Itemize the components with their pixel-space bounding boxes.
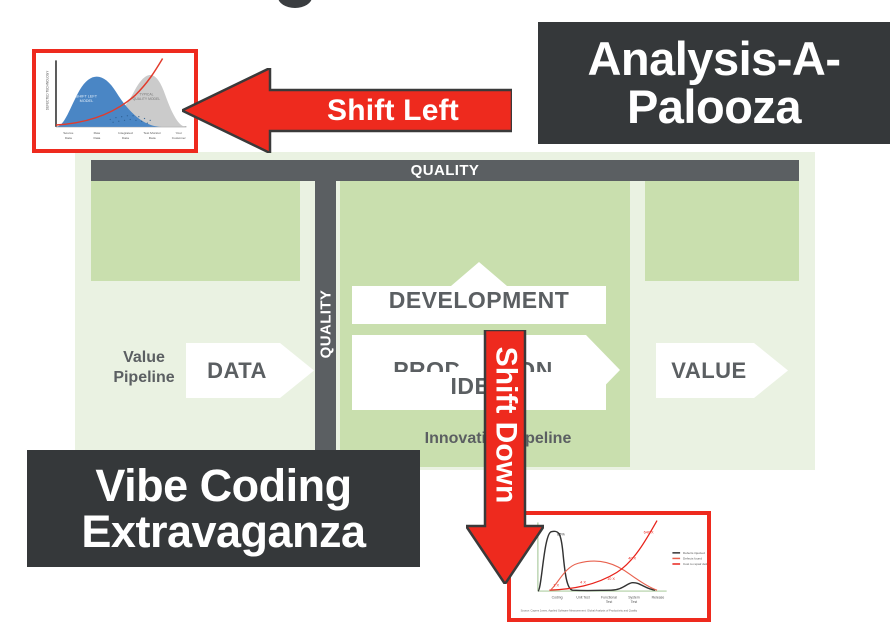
svg-text:Cost to repair defect: Cost to repair defect (683, 562, 707, 566)
svg-text:Data: Data (149, 136, 156, 140)
stage-data-label: DATA (207, 358, 267, 384)
svg-text:Defects found: Defects found (683, 557, 702, 561)
cost-chart-legend: Defects injected Defects found Cost to r… (672, 551, 707, 566)
svg-text:Integrated: Integrated (118, 131, 133, 135)
value-pipeline-label-line1: Value (107, 348, 181, 368)
analysis-a-palooza-title-card: Analysis-A-Palooza (538, 22, 890, 144)
svg-text:Source: Source (63, 131, 73, 135)
shift-left-arrow-label: Shift Left (327, 94, 459, 128)
top-cropped-glyph (278, 0, 312, 8)
value-pipeline-label: Value Pipeline (107, 348, 181, 388)
quality-top-bar: QUALITY (91, 160, 799, 181)
svg-text:10 X: 10 X (607, 577, 615, 581)
shift-left-model-chart[interactable]: DEFECTED TECHNOLOGY SHIFT LEFT MODEL TYP… (32, 49, 198, 153)
svg-text:Data: Data (122, 136, 129, 140)
shift-down-arrow[interactable]: Shift Down (466, 330, 544, 584)
quality-side-label: QUALITY (317, 290, 334, 359)
svg-text:85%: 85% (557, 532, 565, 536)
stage-value-label: VALUE (671, 358, 746, 384)
svg-text:Data: Data (94, 136, 101, 140)
svg-text:Test Monitor: Test Monitor (143, 131, 161, 135)
svg-text:DEFECTED TECHNOLOGY: DEFECTED TECHNOLOGY (45, 70, 49, 110)
svg-text:MODEL: MODEL (80, 99, 94, 103)
shift-left-model-svg: DEFECTED TECHNOLOGY SHIFT LEFT MODEL TYP… (36, 53, 194, 149)
shift-down-arrow-label: Shift Down (488, 347, 522, 504)
vibe-coding-extravaganza-title: Vibe Coding Extravaganza (27, 463, 420, 555)
stage-data[interactable]: DATA (186, 343, 314, 398)
value-pipeline-label-line2: Pipeline (107, 368, 181, 388)
svg-text:640 X: 640 X (644, 531, 655, 535)
svg-text:System: System (628, 596, 640, 600)
svg-text:Unit Test: Unit Test (576, 596, 589, 600)
svg-text:TYPICAL: TYPICAL (139, 93, 153, 97)
svg-text:Source: Capers Jones, Applied: Source: Capers Jones, Applied Software M… (521, 609, 638, 613)
svg-text:Release: Release (652, 596, 665, 600)
value-innovation-pipeline-diagram: QUALITY QUALITY Value Pipeline DATA PROD… (75, 152, 815, 470)
svg-text:Defects injected: Defects injected (683, 551, 705, 555)
vibe-coding-extravaganza-title-card: Vibe Coding Extravaganza (27, 450, 420, 567)
quality-side-bar: QUALITY (315, 181, 336, 467)
svg-text:4 X: 4 X (580, 581, 586, 585)
svg-text:Raw: Raw (94, 131, 101, 135)
svg-text:Data: Data (65, 136, 72, 140)
shift-left-arrow[interactable]: Shift Left (182, 68, 512, 153)
stage-value[interactable]: VALUE (656, 343, 788, 398)
svg-text:40 X: 40 X (628, 557, 636, 561)
svg-text:1 X: 1 X (553, 584, 559, 588)
stage-development-label: DEVELOPMENT (389, 287, 570, 314)
svg-text:Test: Test (606, 600, 612, 604)
quality-top-label: QUALITY (411, 162, 480, 179)
shift-left-arrow-label-wrap: Shift Left (274, 68, 512, 153)
svg-text:Coding: Coding (552, 596, 563, 600)
svg-text:Test: Test (631, 600, 637, 604)
svg-text:Functional: Functional (601, 596, 617, 600)
analysis-a-palooza-title: Analysis-A-Palooza (538, 35, 890, 131)
value-band (645, 181, 799, 281)
value-pipeline-band (91, 181, 300, 281)
svg-text:SHIFT LEFT: SHIFT LEFT (76, 94, 98, 98)
svg-text:QUALITY MODEL: QUALITY MODEL (133, 97, 161, 101)
shift-down-arrow-label-wrap: Shift Down (466, 330, 544, 520)
